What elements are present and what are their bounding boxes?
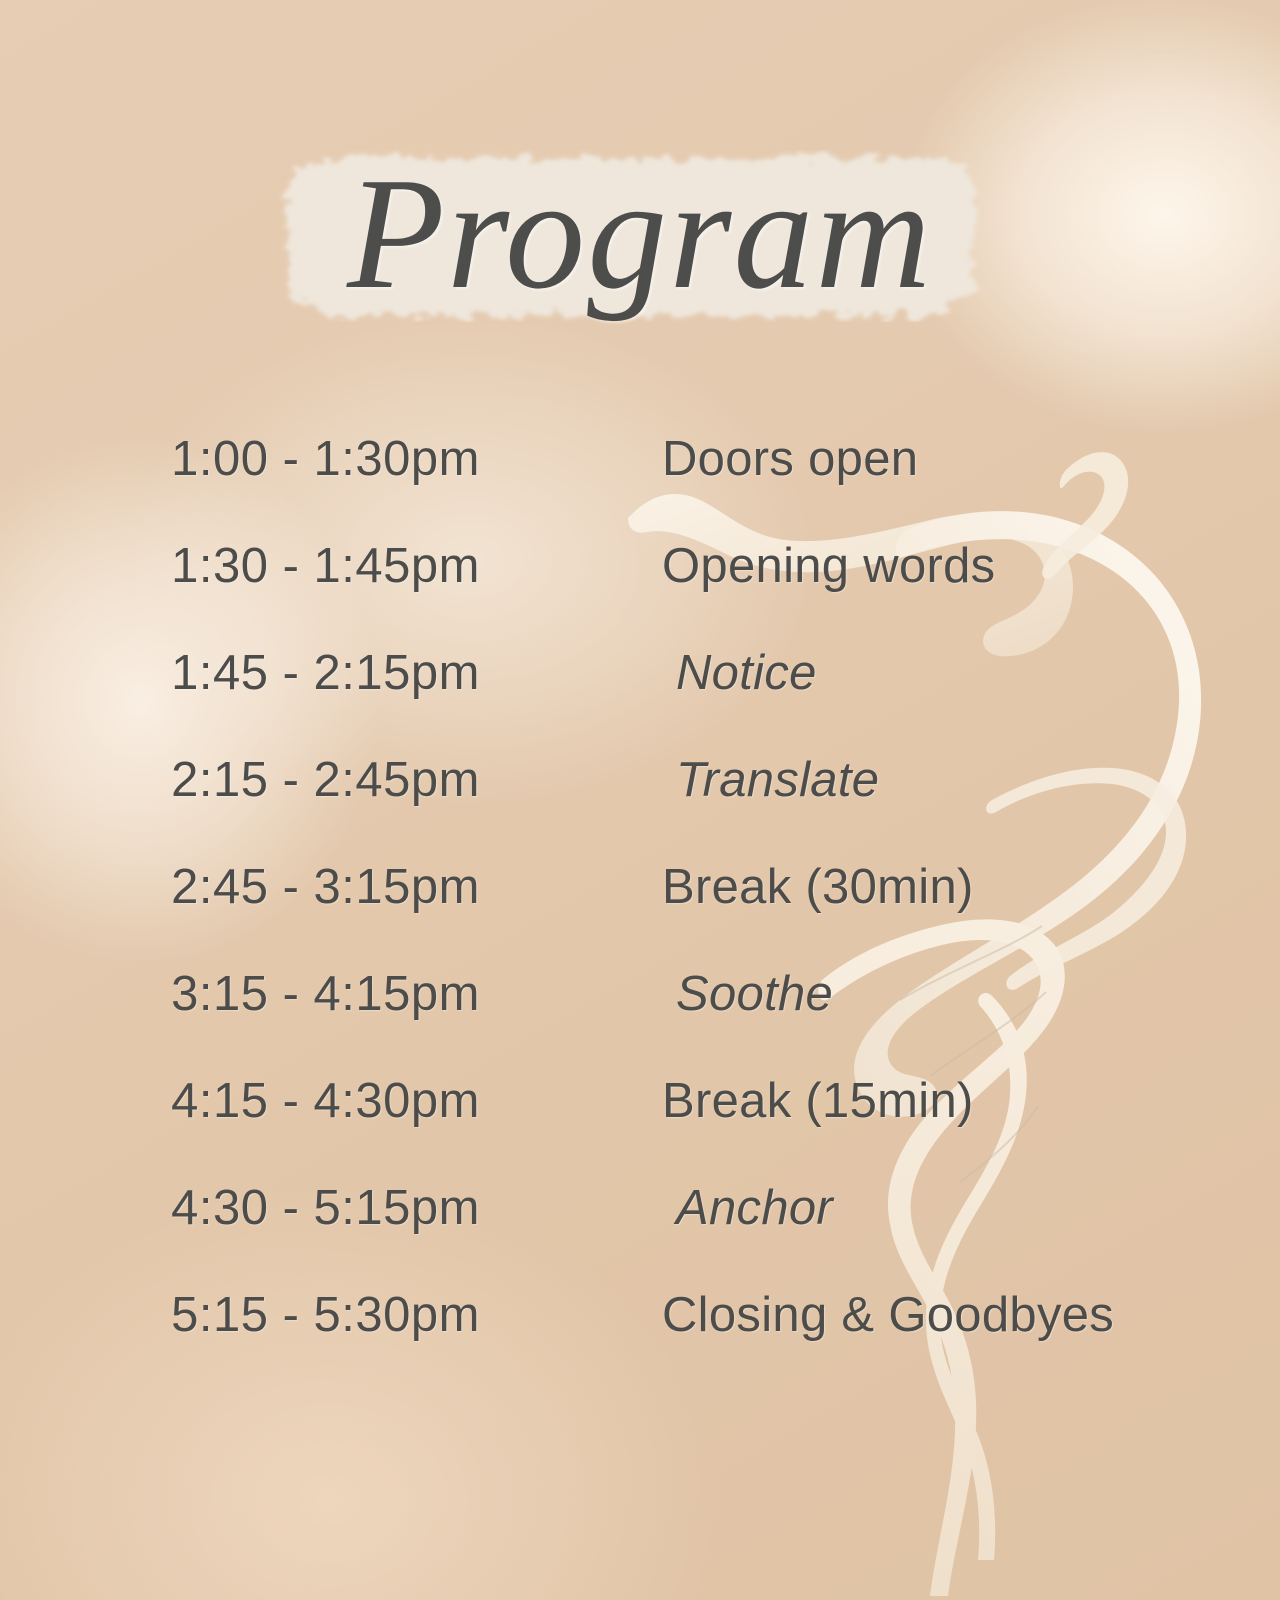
row-label: Break (30min) bbox=[662, 859, 974, 915]
row-time: 2:45 - 3:15pm bbox=[0, 859, 480, 915]
table-row: 1:45 - 2:15pm Notice bbox=[0, 619, 1280, 726]
table-row: 4:30 - 5:15pm Anchor bbox=[0, 1154, 1280, 1261]
row-time: 4:15 - 4:30pm bbox=[0, 1073, 480, 1129]
table-row: 2:45 - 3:15pm Break (30min) bbox=[0, 833, 1280, 940]
row-label: Soothe bbox=[676, 966, 833, 1022]
row-label: Anchor bbox=[676, 1180, 833, 1236]
table-row: 1:00 - 1:30pm Doors open bbox=[0, 405, 1280, 512]
table-row: 1:30 - 1:45pm Opening words bbox=[0, 512, 1280, 619]
row-label: Translate bbox=[676, 752, 879, 808]
row-label: Notice bbox=[676, 645, 817, 701]
program-poster: Program 1:00 - 1:30pm Doors open 1:30 - … bbox=[0, 0, 1280, 1600]
title-block: Program bbox=[0, 128, 1280, 358]
schedule-list: 1:00 - 1:30pm Doors open 1:30 - 1:45pm O… bbox=[0, 405, 1280, 1368]
row-label: Doors open bbox=[662, 431, 918, 487]
table-row: 2:15 - 2:45pm Translate bbox=[0, 726, 1280, 833]
row-time: 3:15 - 4:15pm bbox=[0, 966, 480, 1022]
row-time: 5:15 - 5:30pm bbox=[0, 1287, 480, 1343]
row-label: Closing & Goodbyes bbox=[662, 1287, 1114, 1343]
row-time: 2:15 - 2:45pm bbox=[0, 752, 480, 808]
row-time: 4:30 - 5:15pm bbox=[0, 1180, 480, 1236]
table-row: 4:15 - 4:30pm Break (15min) bbox=[0, 1047, 1280, 1154]
table-row: 5:15 - 5:30pm Closing & Goodbyes bbox=[0, 1261, 1280, 1368]
row-label: Opening words bbox=[662, 538, 995, 594]
row-time: 1:30 - 1:45pm bbox=[0, 538, 480, 594]
table-row: 3:15 - 4:15pm Soothe bbox=[0, 940, 1280, 1047]
row-time: 1:45 - 2:15pm bbox=[0, 645, 480, 701]
row-label: Break (15min) bbox=[662, 1073, 974, 1129]
row-time: 1:00 - 1:30pm bbox=[0, 431, 480, 487]
page-title: Program bbox=[0, 128, 1280, 338]
